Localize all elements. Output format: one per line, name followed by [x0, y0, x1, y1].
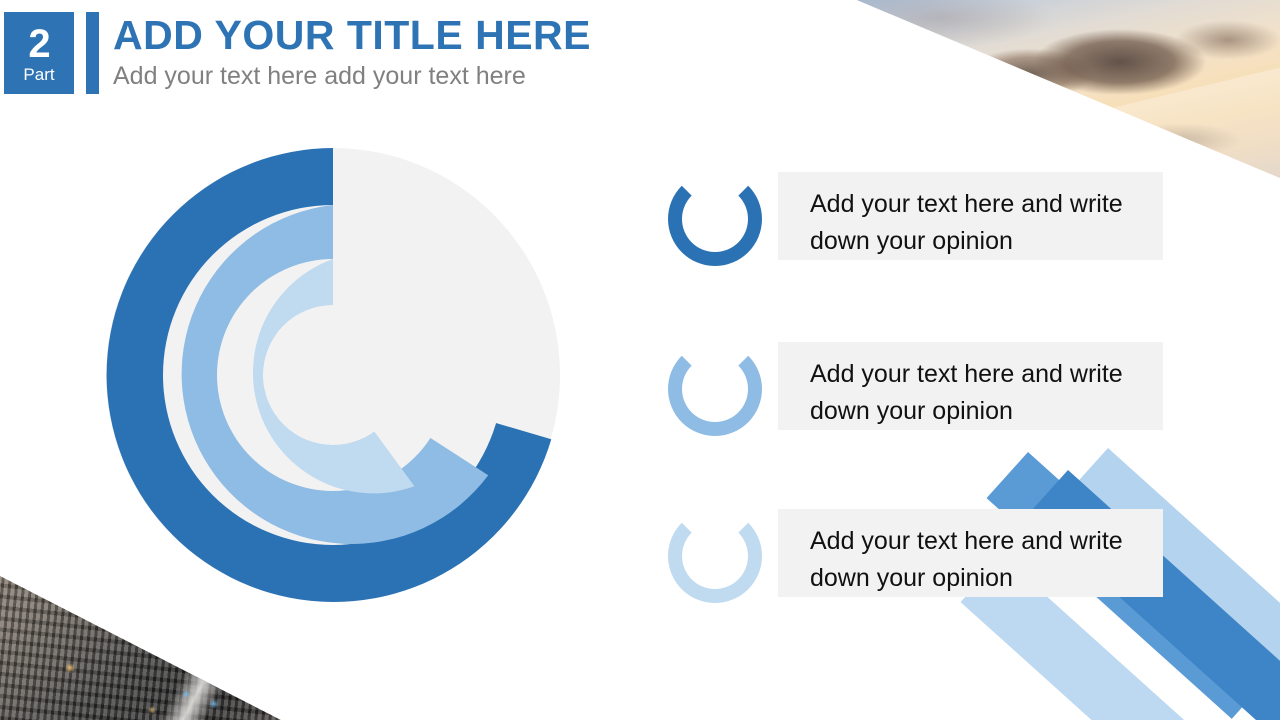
part-label: Part	[23, 66, 54, 83]
header-accent-bar	[86, 12, 99, 94]
title-block: ADD YOUR TITLE HERE Add your text here a…	[113, 14, 591, 89]
slide-canvas: 2 Part ADD YOUR TITLE HERE Add your text…	[0, 0, 1280, 720]
sunset-sky-photo	[820, 0, 1280, 178]
part-number-badge: 2 Part	[4, 12, 74, 94]
bullet-text-box[interactable]: Add your text here and write down your o…	[778, 342, 1163, 430]
bullet-text-box[interactable]: Add your text here and write down your o…	[778, 172, 1163, 260]
donut-ring-icon	[668, 342, 762, 436]
bullet-text: Add your text here and write down your o…	[810, 356, 1140, 430]
concentric-donut-chart	[106, 148, 560, 602]
donut-ring-icon-shape	[668, 172, 762, 266]
part-number: 2	[28, 24, 49, 64]
donut-center-hole	[263, 305, 403, 445]
bullet-text: Add your text here and write down your o…	[810, 523, 1140, 597]
bullet-text: Add your text here and write down your o…	[810, 186, 1140, 260]
donut-ring-icon	[668, 509, 762, 603]
donut-ring-icon-shape	[668, 342, 762, 436]
donut-ring-icon-shape	[668, 509, 762, 603]
donut-ring-icon	[668, 172, 762, 266]
page-title: ADD YOUR TITLE HERE	[113, 14, 591, 57]
bullet-text-box[interactable]: Add your text here and write down your o…	[778, 509, 1163, 597]
page-subtitle: Add your text here add your text here	[113, 63, 591, 89]
